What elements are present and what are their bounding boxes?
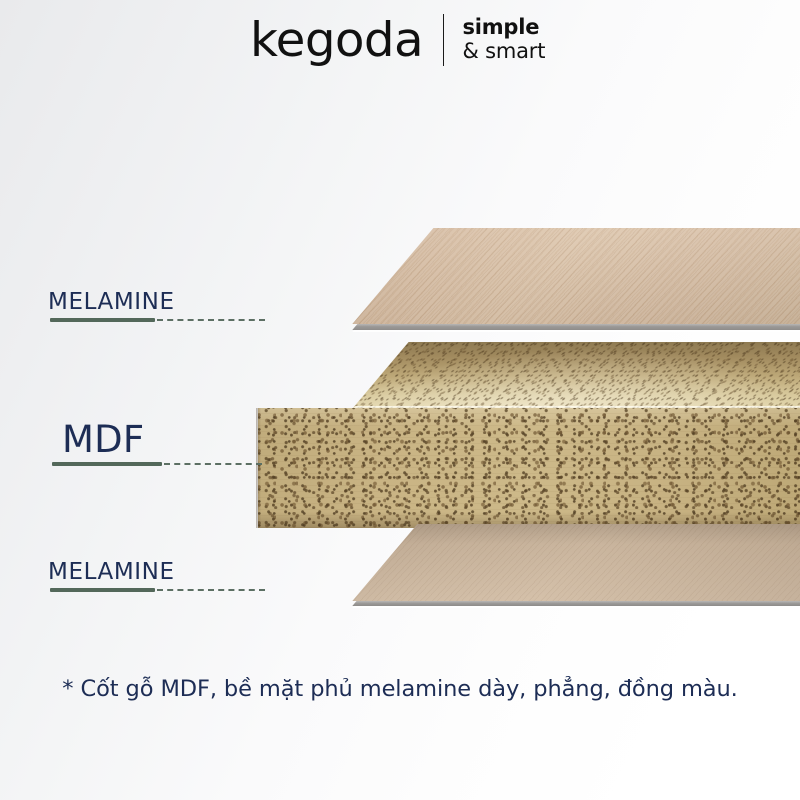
callout-melamine-top-rule	[50, 318, 155, 322]
callout-mdf-rule	[52, 462, 162, 466]
brand-tagline: simple & smart	[462, 16, 545, 63]
mdf-top-texture	[256, 342, 800, 408]
brand-name: kegoda	[250, 17, 423, 64]
melamine-bottom-highlight	[258, 606, 800, 608]
melamine-bottom-panel	[258, 524, 800, 608]
melamine-top-panel	[258, 228, 800, 332]
callout-melamine-top: MELAMINE	[0, 282, 300, 326]
melamine-top-face	[258, 228, 800, 324]
callout-mdf-leader-line	[164, 463, 262, 465]
melamine-top-edge	[258, 324, 800, 330]
melamine-bottom-edge	[258, 601, 800, 606]
mdf-core-block	[256, 342, 800, 528]
mdf-top-face	[256, 342, 800, 408]
logo-divider	[443, 14, 445, 66]
callout-melamine-bottom: MELAMINE	[0, 552, 300, 596]
diagram-canvas: kegoda simple & smart MELAMINE	[0, 0, 800, 800]
callout-melamine-bottom-label: MELAMINE	[48, 561, 175, 584]
melamine-top-highlight	[258, 330, 800, 332]
brand-logo: kegoda simple & smart	[0, 14, 800, 66]
caption-text: * Cốt gỗ MDF, bề mặt phủ melamine dày, p…	[0, 676, 800, 703]
brand-tagline-line-1: simple	[462, 16, 545, 40]
brand-tagline-line-2: & smart	[462, 40, 545, 64]
callout-melamine-bottom-leader-line	[157, 589, 265, 591]
melamine-bottom-face	[258, 524, 800, 601]
callout-melamine-top-leader-line	[157, 319, 265, 321]
callout-mdf-label: MDF	[62, 421, 144, 458]
callout-melamine-bottom-rule	[50, 588, 155, 592]
mdf-front-grain	[258, 408, 800, 528]
mdf-front-face	[258, 408, 800, 528]
callout-melamine-top-label: MELAMINE	[48, 291, 175, 314]
callout-mdf: MDF	[0, 412, 300, 470]
